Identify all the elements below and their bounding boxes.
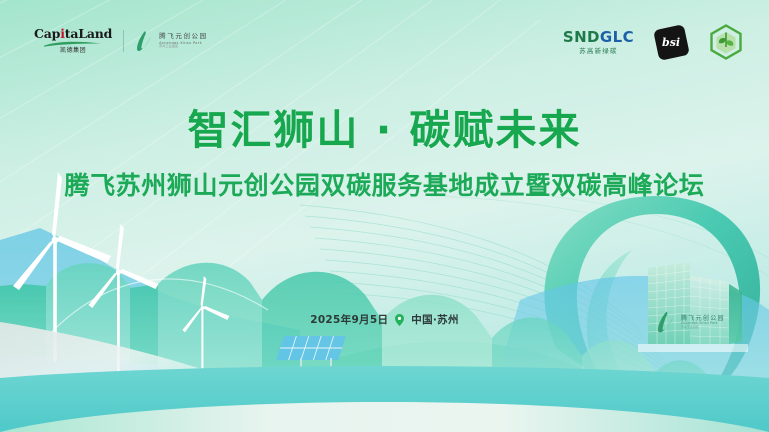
event-location: 中国·苏州 bbox=[411, 312, 459, 327]
capitaland-swoosh-icon bbox=[43, 40, 103, 47]
bottom-ascendas-logo: 腾飞元创公园 Ascendas Xinsu Park 苏州工业园区 bbox=[655, 310, 725, 334]
bottom-logo-en2: 苏州工业园区 bbox=[681, 326, 725, 329]
ascendas-logo: 腾飞元创公园 Ascendas Xinsu Park 苏州工业园区 bbox=[135, 30, 208, 52]
ascendas-a-icon bbox=[135, 30, 155, 52]
bsi-logo: bsi bbox=[653, 24, 690, 61]
event-date: 2025年9月5日 bbox=[310, 312, 388, 327]
ascendas-a-icon-bottom bbox=[655, 310, 678, 334]
page-title: 智汇狮山 · 碳赋未来 bbox=[0, 96, 769, 156]
capitaland-logo: CapitaLand 凯德集团 bbox=[34, 28, 112, 54]
bottom-teal-band bbox=[0, 0, 769, 432]
event-banner: CapitaLand 凯德集团 腾飞元创公园 Ascendas Xinsu Pa… bbox=[0, 0, 769, 432]
bsi-wordmark: bsi bbox=[662, 36, 680, 49]
page-subtitle: 腾飞苏州狮山元创公园双碳服务基地成立暨双碳高峰论坛 bbox=[0, 166, 769, 202]
capitaland-cn-label: 凯德集团 bbox=[60, 48, 86, 54]
ascendas-cn-label: 腾飞元创公园 bbox=[159, 33, 208, 40]
logo-divider bbox=[123, 30, 124, 52]
event-meta: 2025年9月5日 中国·苏州 bbox=[0, 312, 769, 327]
green-hex-leaf-icon bbox=[709, 24, 743, 60]
header-right-logos: SNDGLC 苏高新绿碳 bsi bbox=[563, 24, 743, 60]
ascendas-en2-label: 苏州工业园区 bbox=[159, 45, 208, 48]
sndglc-logo: SNDGLC 苏高新绿碳 bbox=[563, 30, 634, 55]
sndglc-wordmark: SNDGLC bbox=[563, 30, 634, 45]
header-left-logos: CapitaLand 凯德集团 腾飞元创公园 Ascendas Xinsu Pa… bbox=[34, 28, 208, 54]
sndglc-cn-label: 苏高新绿碳 bbox=[579, 48, 618, 55]
location-pin-icon bbox=[395, 314, 404, 326]
